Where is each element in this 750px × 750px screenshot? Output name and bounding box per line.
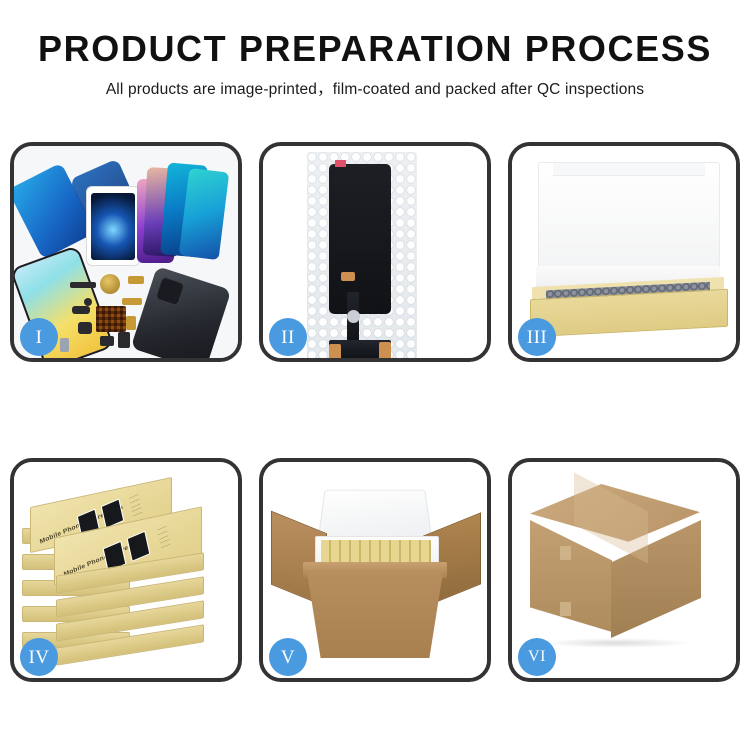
step-badge-1: I (20, 318, 58, 356)
bubble-wrap-bag (307, 152, 417, 358)
flex-cable-a (128, 276, 144, 284)
phone-screen-white-front (86, 186, 140, 266)
logic-board-chip (96, 306, 126, 332)
small-part-d (100, 336, 114, 346)
process-step-panel-4[interactable]: Mobile Phone Spare Parts ———————————————… (10, 458, 242, 682)
carton-body (307, 572, 443, 658)
foam-lid (538, 162, 720, 280)
wrapped-screen (329, 164, 391, 314)
step-badge-3: III (518, 318, 556, 356)
carton-shadow (542, 638, 692, 648)
page-title: PRODUCT PREPARATION PROCESS (0, 30, 750, 68)
step-badge-4: IV (20, 638, 58, 676)
flex-cable-b (122, 298, 142, 305)
camera-module-icon (100, 274, 120, 294)
page-subtitle: All products are image-printed，film-coat… (0, 77, 750, 99)
process-step-panel-6[interactable]: VI (508, 458, 740, 682)
process-step-grid: I II (10, 142, 740, 682)
box-stack: Mobile Phone Spare Parts ———————————————… (20, 476, 238, 672)
carton-tape-seam-b (560, 602, 571, 616)
tan-tape-a (341, 272, 355, 281)
flex-cable-c (126, 316, 136, 330)
header: PRODUCT PREPARATION PROCESS All products… (0, 0, 750, 99)
small-part-a (70, 282, 96, 288)
phone-back-housing (131, 266, 232, 358)
product-preparation-page: PRODUCT PREPARATION PROCESS All products… (0, 0, 750, 750)
step-badge-6: VI (518, 638, 556, 676)
tan-tape-c (379, 342, 391, 358)
box-label-thumb-d (127, 531, 151, 562)
small-part-f (60, 338, 69, 352)
tan-tape-b (329, 344, 341, 358)
box-label-spec-lower: ——————————————— (157, 524, 171, 550)
process-step-panel-1[interactable]: I (10, 142, 242, 362)
box-label-spec-upper: ——————————————— (129, 492, 143, 518)
small-part-c (78, 322, 92, 334)
small-part-g (84, 298, 92, 306)
process-step-panel-2[interactable]: II (259, 142, 491, 362)
step-badge-5: V (269, 638, 307, 676)
small-part-b (72, 306, 90, 314)
step-badge-2: II (269, 318, 307, 356)
process-step-panel-3[interactable]: III (508, 142, 740, 362)
carton-tape-seam-a (560, 546, 571, 560)
red-label-sticker (335, 160, 346, 167)
process-step-panel-5[interactable]: V (259, 458, 491, 682)
small-part-e (118, 332, 130, 348)
connector-dot (347, 310, 360, 323)
